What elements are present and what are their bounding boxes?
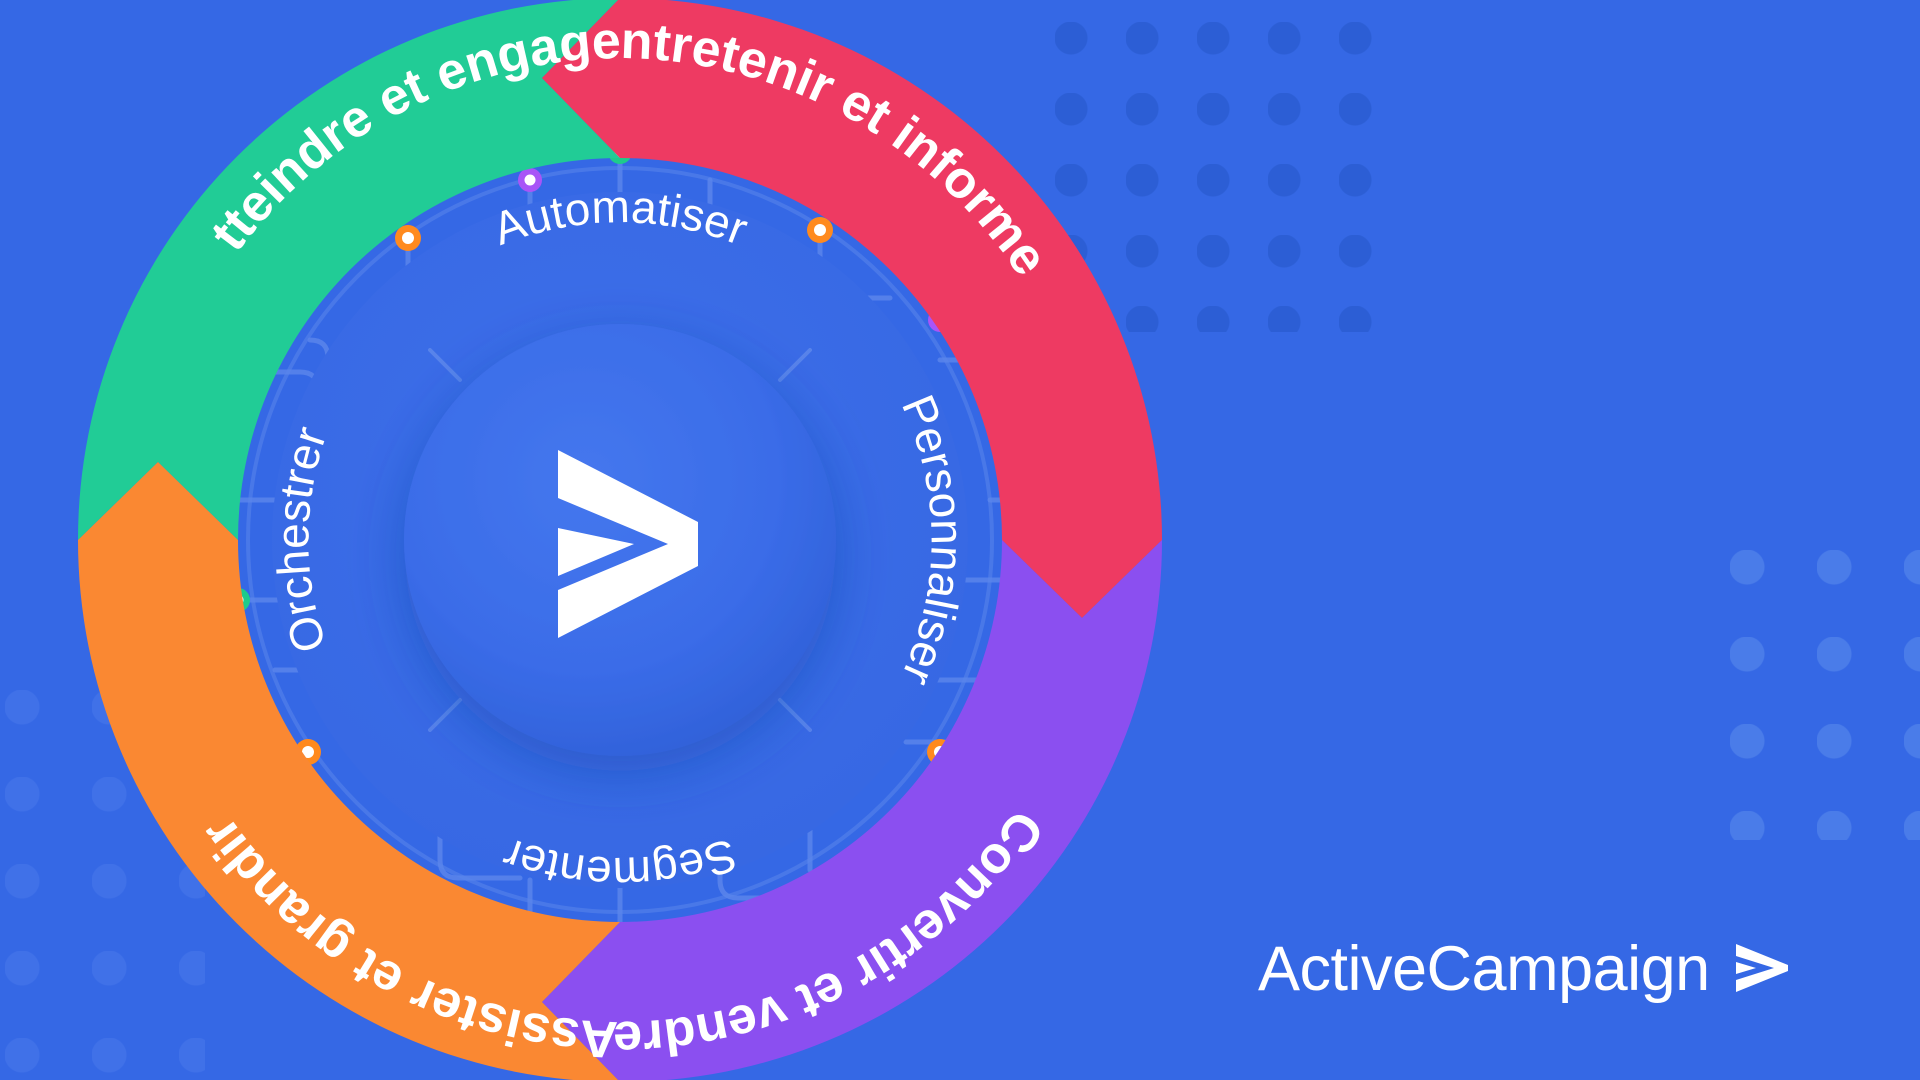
dot-grid-right	[1730, 550, 1920, 840]
lifecycle-wheel: Atteindre et engager Entretenir et infor…	[60, 0, 1180, 1080]
brand-lockup: ActiveCampaign	[1258, 938, 1794, 1001]
core-disc	[404, 324, 836, 756]
chevron-right-icon	[1730, 940, 1794, 996]
poster-canvas: Atteindre et engager Entretenir et infor…	[0, 0, 1920, 1080]
brand-wordmark: ActiveCampaign	[1258, 938, 1710, 1001]
